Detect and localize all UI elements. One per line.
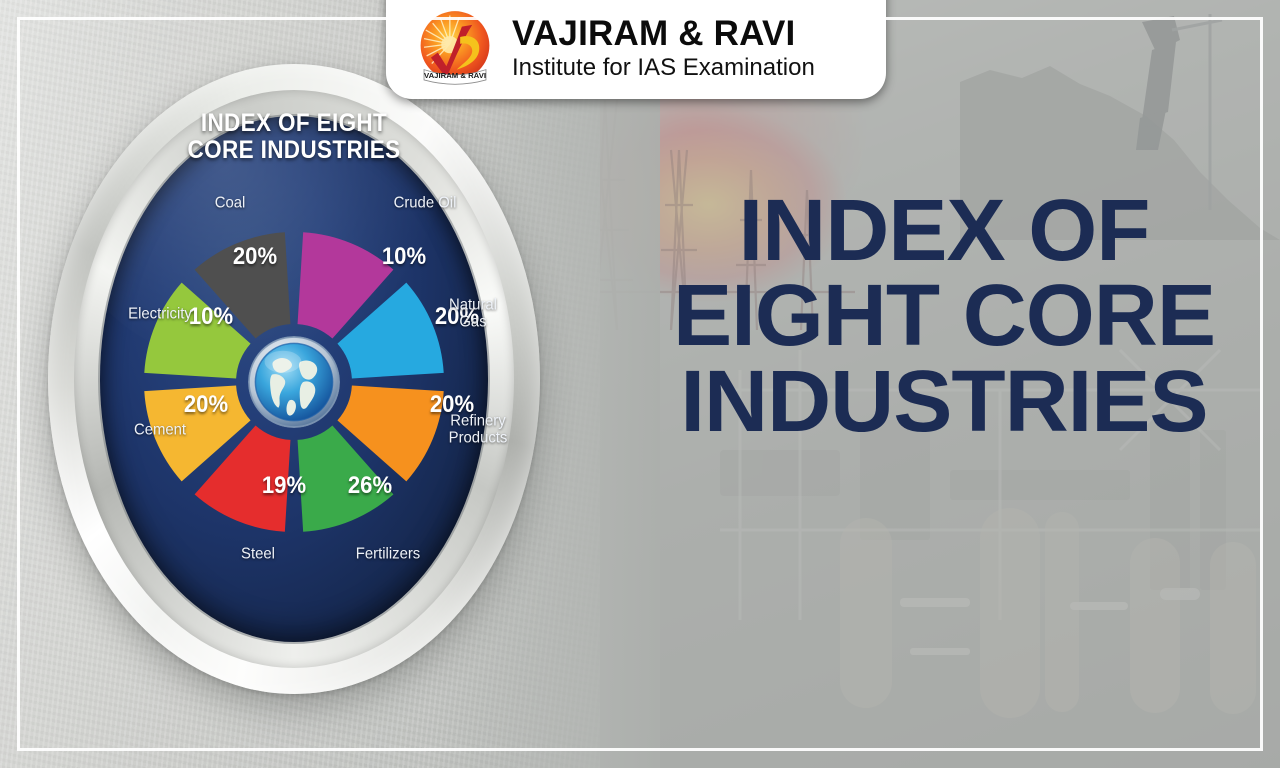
brand-badge[interactable]: VAJIRAM & RAVI VAJIRAM & RAVI Institute …	[386, 0, 886, 99]
dial-title-line-1: INDEX OF EIGHT	[73, 110, 516, 137]
poster-canvas: INDEX OF EIGHT CORE INDUSTRIES	[0, 0, 1280, 768]
vajiram-ravi-sun-check-logo-icon: VAJIRAM & RAVI	[412, 6, 498, 92]
dial-title: INDEX OF EIGHT CORE INDUSTRIES	[73, 110, 516, 163]
eight-core-industries-dial: INDEX OF EIGHT CORE INDUSTRIES	[48, 64, 540, 694]
logo-banner-text: VAJIRAM & RAVI	[424, 71, 486, 80]
brand-name: VAJIRAM & RAVI	[512, 16, 815, 53]
globe-icon	[248, 336, 340, 428]
headline-line-3: INDUSTRIES	[628, 359, 1260, 444]
headline-line-1: INDEX OF	[628, 188, 1260, 273]
brand-subtitle: Institute for IAS Examination	[512, 54, 815, 82]
brand-text: VAJIRAM & RAVI Institute for IAS Examina…	[512, 16, 815, 81]
page-title: INDEX OF EIGHT CORE INDUSTRIES	[628, 188, 1260, 444]
headline-line-2: EIGHT CORE	[628, 273, 1260, 358]
dial-title-line-2: CORE INDUSTRIES	[73, 137, 516, 164]
